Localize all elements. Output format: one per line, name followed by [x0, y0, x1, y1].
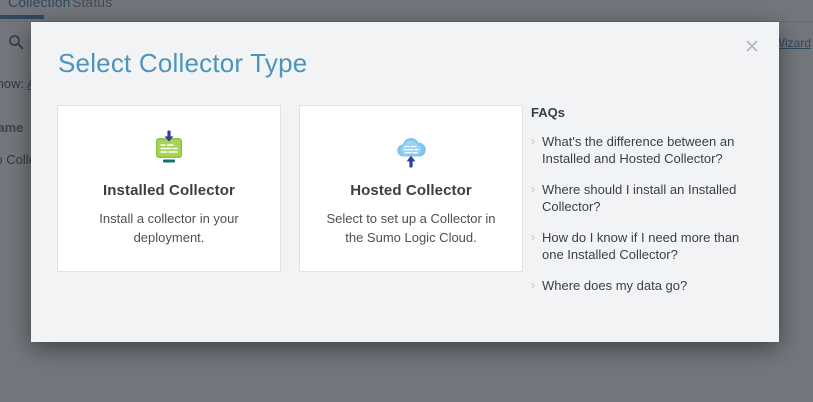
faq-item-label: Where does my data go?	[542, 277, 687, 294]
faq-heading: FAQs	[531, 105, 761, 120]
chevron-right-icon: ›	[531, 277, 542, 294]
faq-item-label: Where should I install an Installed Coll…	[542, 181, 761, 215]
faq-item-label: How do I know if I need more than one In…	[542, 229, 761, 263]
faq-item[interactable]: › How do I know if I need more than one …	[531, 229, 761, 263]
hosted-collector-title: Hosted Collector	[350, 182, 472, 199]
select-collector-type-dialog: Select Collector Type ✕	[31, 22, 779, 342]
installed-collector-card[interactable]: Installed Collector Install a collector …	[57, 105, 281, 272]
faq-item[interactable]: › Where should I install an Installed Co…	[531, 181, 761, 215]
chevron-right-icon: ›	[531, 181, 542, 215]
faq-item-label: What's the difference between an Install…	[542, 133, 761, 167]
faq-item[interactable]: › What's the difference between an Insta…	[531, 133, 761, 167]
installed-collector-icon	[147, 128, 191, 174]
installed-collector-description: Install a collector in your deployment.	[74, 209, 264, 247]
faq-item[interactable]: › Where does my data go?	[531, 277, 761, 294]
hosted-collector-card[interactable]: Hosted Collector Select to set up a Coll…	[299, 105, 523, 272]
hosted-collector-description: Select to set up a Collector in the Sumo…	[316, 209, 506, 247]
hosted-collector-icon	[389, 128, 433, 174]
collector-type-cards: Installed Collector Install a collector …	[57, 105, 523, 272]
faq-section: FAQs › What's the difference between an …	[531, 105, 761, 308]
chevron-right-icon: ›	[531, 229, 542, 263]
chevron-right-icon: ›	[531, 133, 542, 167]
app-screen: Collection Status Search Show: All Name …	[0, 0, 813, 402]
dialog-title: Select Collector Type	[58, 48, 307, 79]
close-icon[interactable]: ✕	[739, 34, 765, 60]
installed-collector-title: Installed Collector	[103, 182, 235, 199]
